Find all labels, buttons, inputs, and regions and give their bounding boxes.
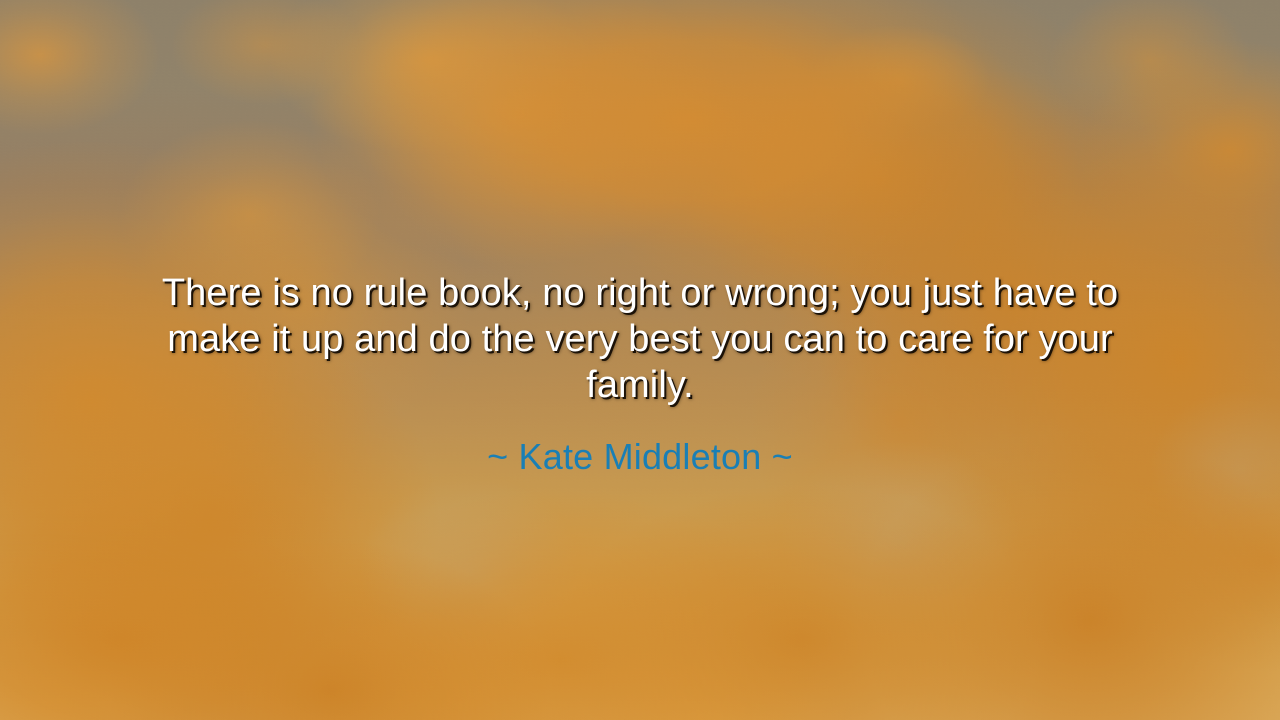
quote-text-block: There is no rule book, no right or wrong… [0, 270, 1280, 478]
quote-image-canvas: There is no rule book, no right or wrong… [0, 0, 1280, 720]
quote-text: There is no rule book, no right or wrong… [125, 270, 1155, 408]
quote-attribution: ~ Kate Middleton ~ [100, 436, 1180, 478]
